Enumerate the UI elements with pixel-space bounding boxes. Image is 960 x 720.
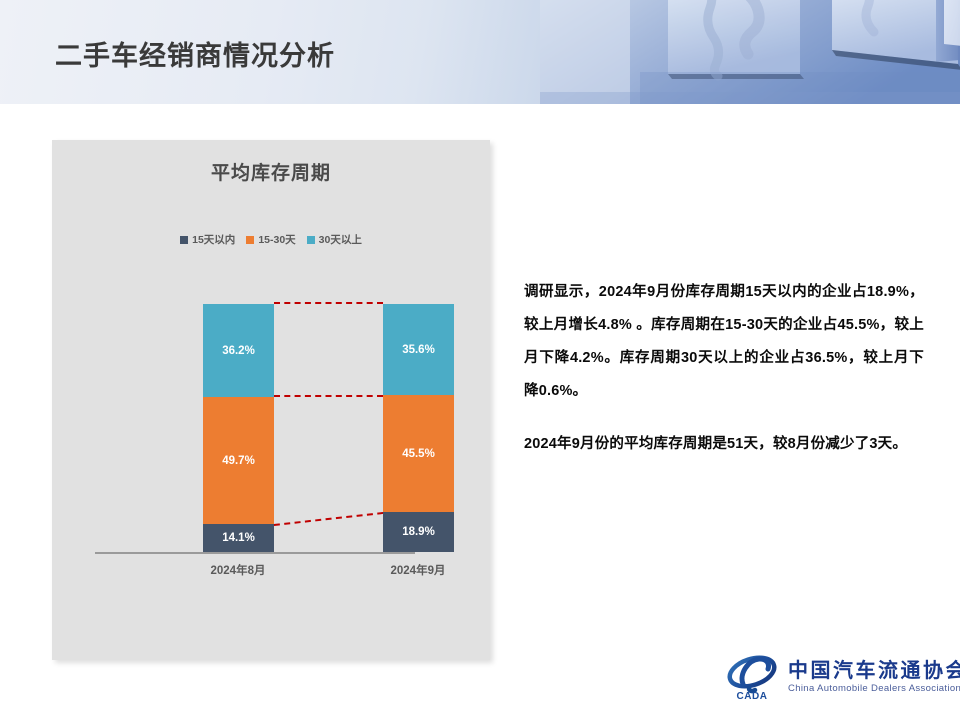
cada-swirl-emblem-icon: CADA [726,654,780,702]
blue-cubes-world-map-image [540,0,960,104]
cada-wordmark: CADA [737,691,768,702]
x-axis-label-2024-09: 2024年9月 [358,562,478,578]
x-axis-label-2024-08: 2024年8月 [178,562,298,578]
chart-card: 平均库存周期 15天以内 15-30天 30天以上 36.2% 49.7% [52,140,490,660]
page-header: 二手车经销商情况分析 [0,0,960,104]
bar-segment-15-30days[interactable]: 49.7% [203,397,274,524]
bar-value-label: 45.5% [402,448,435,460]
cada-name-en: China Automobile Dealers Association [788,682,960,695]
cada-logo: CADA 中国汽车流通协会 China Automobile Dealers A… [726,652,952,704]
bar-value-label: 18.9% [402,526,435,538]
bar-segment-15days-within[interactable]: 18.9% [383,512,454,552]
connector-line-orange-navy [274,512,383,528]
bar-value-label: 36.2% [222,345,255,357]
x-axis-line [95,552,415,554]
cada-name-cn: 中国汽车流通协会 [788,660,960,682]
connector-line-teal-orange [274,395,383,399]
cada-logo-text: 中国汽车流通协会 China Automobile Dealers Associ… [788,660,960,695]
bar-segment-15-30days[interactable]: 45.5% [383,395,454,512]
bar-value-label: 35.6% [402,344,435,356]
stacked-bar-plot: 36.2% 49.7% 14.1% 35.6% 45.5% 18.9% 2024… [52,140,490,660]
bar-segment-30days-above[interactable]: 35.6% [383,304,454,395]
analysis-paragraph-2: 2024年9月份的平均库存周期是51天，较8月份减少了3天。 [524,428,924,461]
page-title: 二手车经销商情况分析 [55,34,335,73]
bar-value-label: 49.7% [222,455,255,467]
analysis-text-block: 调研显示，2024年9月份库存周期15天以内的企业占18.9%，较上月增长4.8… [524,276,924,481]
bar-segment-15days-within[interactable]: 14.1% [203,524,274,552]
bar-segment-30days-above[interactable]: 36.2% [203,304,274,397]
analysis-paragraph-1: 调研显示，2024年9月份库存周期15天以内的企业占18.9%，较上月增长4.8… [524,276,924,408]
connector-line-top [274,302,383,306]
bar-value-label: 14.1% [222,532,255,544]
